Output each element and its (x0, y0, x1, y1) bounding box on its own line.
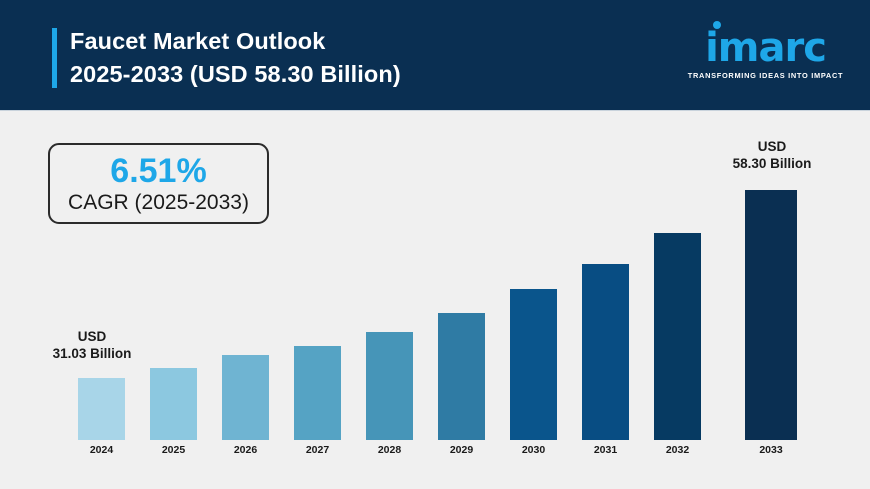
bar-2028 (366, 332, 413, 440)
x-axis-label-2033: 2033 (745, 444, 797, 456)
x-axis-label-2030: 2030 (510, 444, 557, 456)
x-axis-label-2029: 2029 (438, 444, 485, 456)
x-axis-label-2025: 2025 (150, 444, 197, 456)
x-axis-label-2027: 2027 (294, 444, 341, 456)
end-value-callout: USD 58.30 Billion (698, 138, 846, 172)
bar-chart: 2024202520262027202820292030203120322033 (0, 0, 870, 489)
bar-2026 (222, 355, 269, 440)
bar-2029 (438, 313, 485, 440)
bar-2024 (78, 378, 125, 440)
bar-2033 (745, 190, 797, 440)
x-axis-label-2026: 2026 (222, 444, 269, 456)
bar-2025 (150, 368, 197, 440)
start-value-currency: USD (22, 328, 162, 345)
end-value-currency: USD (698, 138, 846, 155)
start-value-amount: 31.03 Billion (22, 345, 162, 362)
x-axis-label-2032: 2032 (654, 444, 701, 456)
x-axis-label-2028: 2028 (366, 444, 413, 456)
start-value-callout: USD 31.03 Billion (22, 328, 162, 362)
x-axis-label-2024: 2024 (78, 444, 125, 456)
bar-2027 (294, 346, 341, 440)
end-value-amount: 58.30 Billion (698, 155, 846, 172)
bar-2032 (654, 233, 701, 440)
bar-2031 (582, 264, 629, 440)
x-axis-label-2031: 2031 (582, 444, 629, 456)
bar-2030 (510, 289, 557, 440)
